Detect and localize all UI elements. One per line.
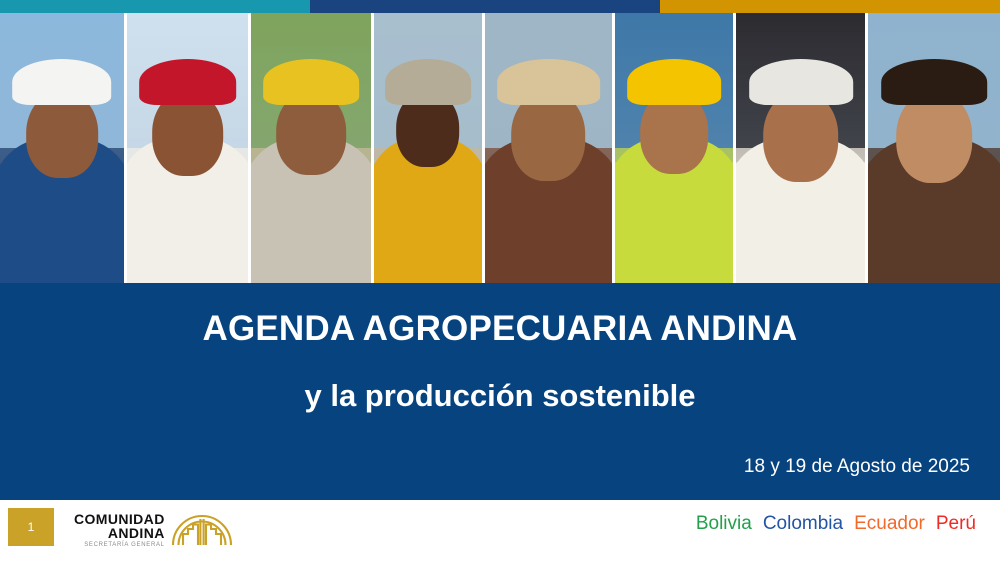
photo-panel [736, 13, 866, 283]
photo-panel [127, 13, 249, 283]
photo-panel [615, 13, 733, 283]
country-label: Ecuador [854, 513, 925, 535]
country-label: Colombia [763, 513, 843, 535]
photo-panel [485, 13, 613, 283]
photo-panel [251, 13, 371, 283]
page-subtitle: y la producción sostenible [0, 378, 1000, 414]
page-title: AGENDA AGROPECUARIA ANDINA [0, 309, 1000, 349]
photo-subject [868, 13, 1000, 283]
photo-subject [251, 13, 371, 283]
photo-panel [0, 13, 124, 283]
andean-arch-logo-icon [171, 508, 233, 551]
logo-line-comunidad: COMUNIDAD [74, 512, 165, 526]
photo-subject [0, 13, 124, 283]
subject-headwear [627, 59, 721, 105]
subject-headwear [497, 59, 599, 105]
title-band: AGENDA AGROPECUARIA ANDINA y la producci… [0, 283, 1000, 500]
logo-wordmark: COMUNIDAD ANDINA SECRETARÍA GENERAL [74, 512, 165, 548]
photo-subject [127, 13, 249, 283]
country-label: Bolivia [696, 513, 752, 535]
presentation-slide: AGENDA AGROPECUARIA ANDINA y la producci… [0, 0, 1000, 562]
subject-headwear [263, 59, 359, 105]
photo-subject [615, 13, 733, 283]
photo-subject [485, 13, 613, 283]
event-date: 18 y 19 de Agosto de 2025 [744, 456, 970, 478]
subject-headwear [12, 59, 111, 105]
subject-headwear [139, 59, 237, 105]
logo-line-andina: ANDINA [74, 526, 165, 540]
logo-line-secretaria: SECRETARÍA GENERAL [74, 542, 165, 548]
subject-headwear [882, 59, 988, 105]
top-rule-segment-teal [0, 0, 310, 13]
slide-footer: 1 COMUNIDAD ANDINA SECRETARÍA GENERAL [0, 500, 1000, 562]
comunidad-andina-logo: COMUNIDAD ANDINA SECRETARÍA GENERAL [74, 508, 233, 551]
country-label: Perú [936, 513, 976, 535]
top-rule-segment-blue [310, 0, 660, 13]
top-rule-segment-gold [660, 0, 1000, 13]
subject-headwear [749, 59, 853, 105]
photo-subject [736, 13, 866, 283]
member-countries-list: BoliviaColombiaEcuadorPerú [696, 513, 976, 535]
photo-strip [0, 13, 1000, 283]
photo-panel [374, 13, 482, 283]
subject-headwear [385, 59, 471, 105]
photo-panel [868, 13, 1000, 283]
photo-subject [374, 13, 482, 283]
slide-number-badge: 1 [8, 508, 54, 546]
top-color-rule [0, 0, 1000, 13]
